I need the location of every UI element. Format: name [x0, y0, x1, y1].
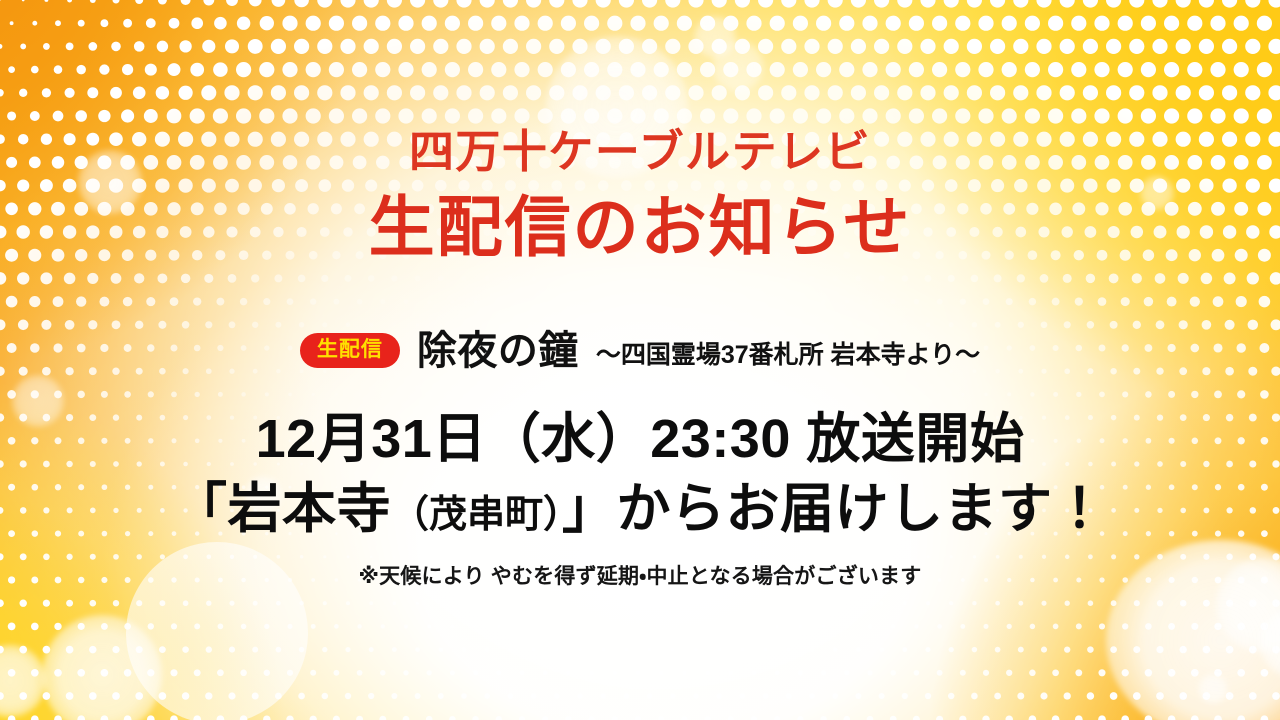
- weather-disclaimer-note: ※天候により やむを得ず延期・中止となる場合がございます: [0, 566, 1280, 587]
- program-subtitle: 〜四国霊場37番札所 岩本寺より〜: [596, 343, 980, 368]
- slide-content: 四万十ケーブルテレビ 生配信のお知らせ 生配信 除夜の鐘 〜四国霊場37番札所 …: [0, 0, 1280, 720]
- broadcast-date-line: 12月31日（水）23:30 放送開始: [0, 412, 1280, 466]
- page-title-line-2: 生配信のお知らせ: [0, 194, 1280, 260]
- venue-prefix: 「岩本寺: [173, 479, 391, 539]
- venue-suffix: 」からお届けします！: [562, 479, 1107, 539]
- venue-paren: （茂串町）: [391, 494, 562, 536]
- announcement-slide: 四万十ケーブルテレビ 生配信のお知らせ 生配信 除夜の鐘 〜四国霊場37番札所 …: [0, 0, 1280, 720]
- broadcast-venue-line: 「岩本寺（茂串町）」からお届けします！: [0, 482, 1280, 536]
- live-badge: 生配信: [300, 333, 400, 368]
- page-title-line-1: 四万十ケーブルテレビ: [0, 129, 1280, 174]
- program-row: 生配信 除夜の鐘 〜四国霊場37番札所 岩本寺より〜: [0, 330, 1280, 370]
- program-title: 除夜の鐘: [417, 331, 579, 371]
